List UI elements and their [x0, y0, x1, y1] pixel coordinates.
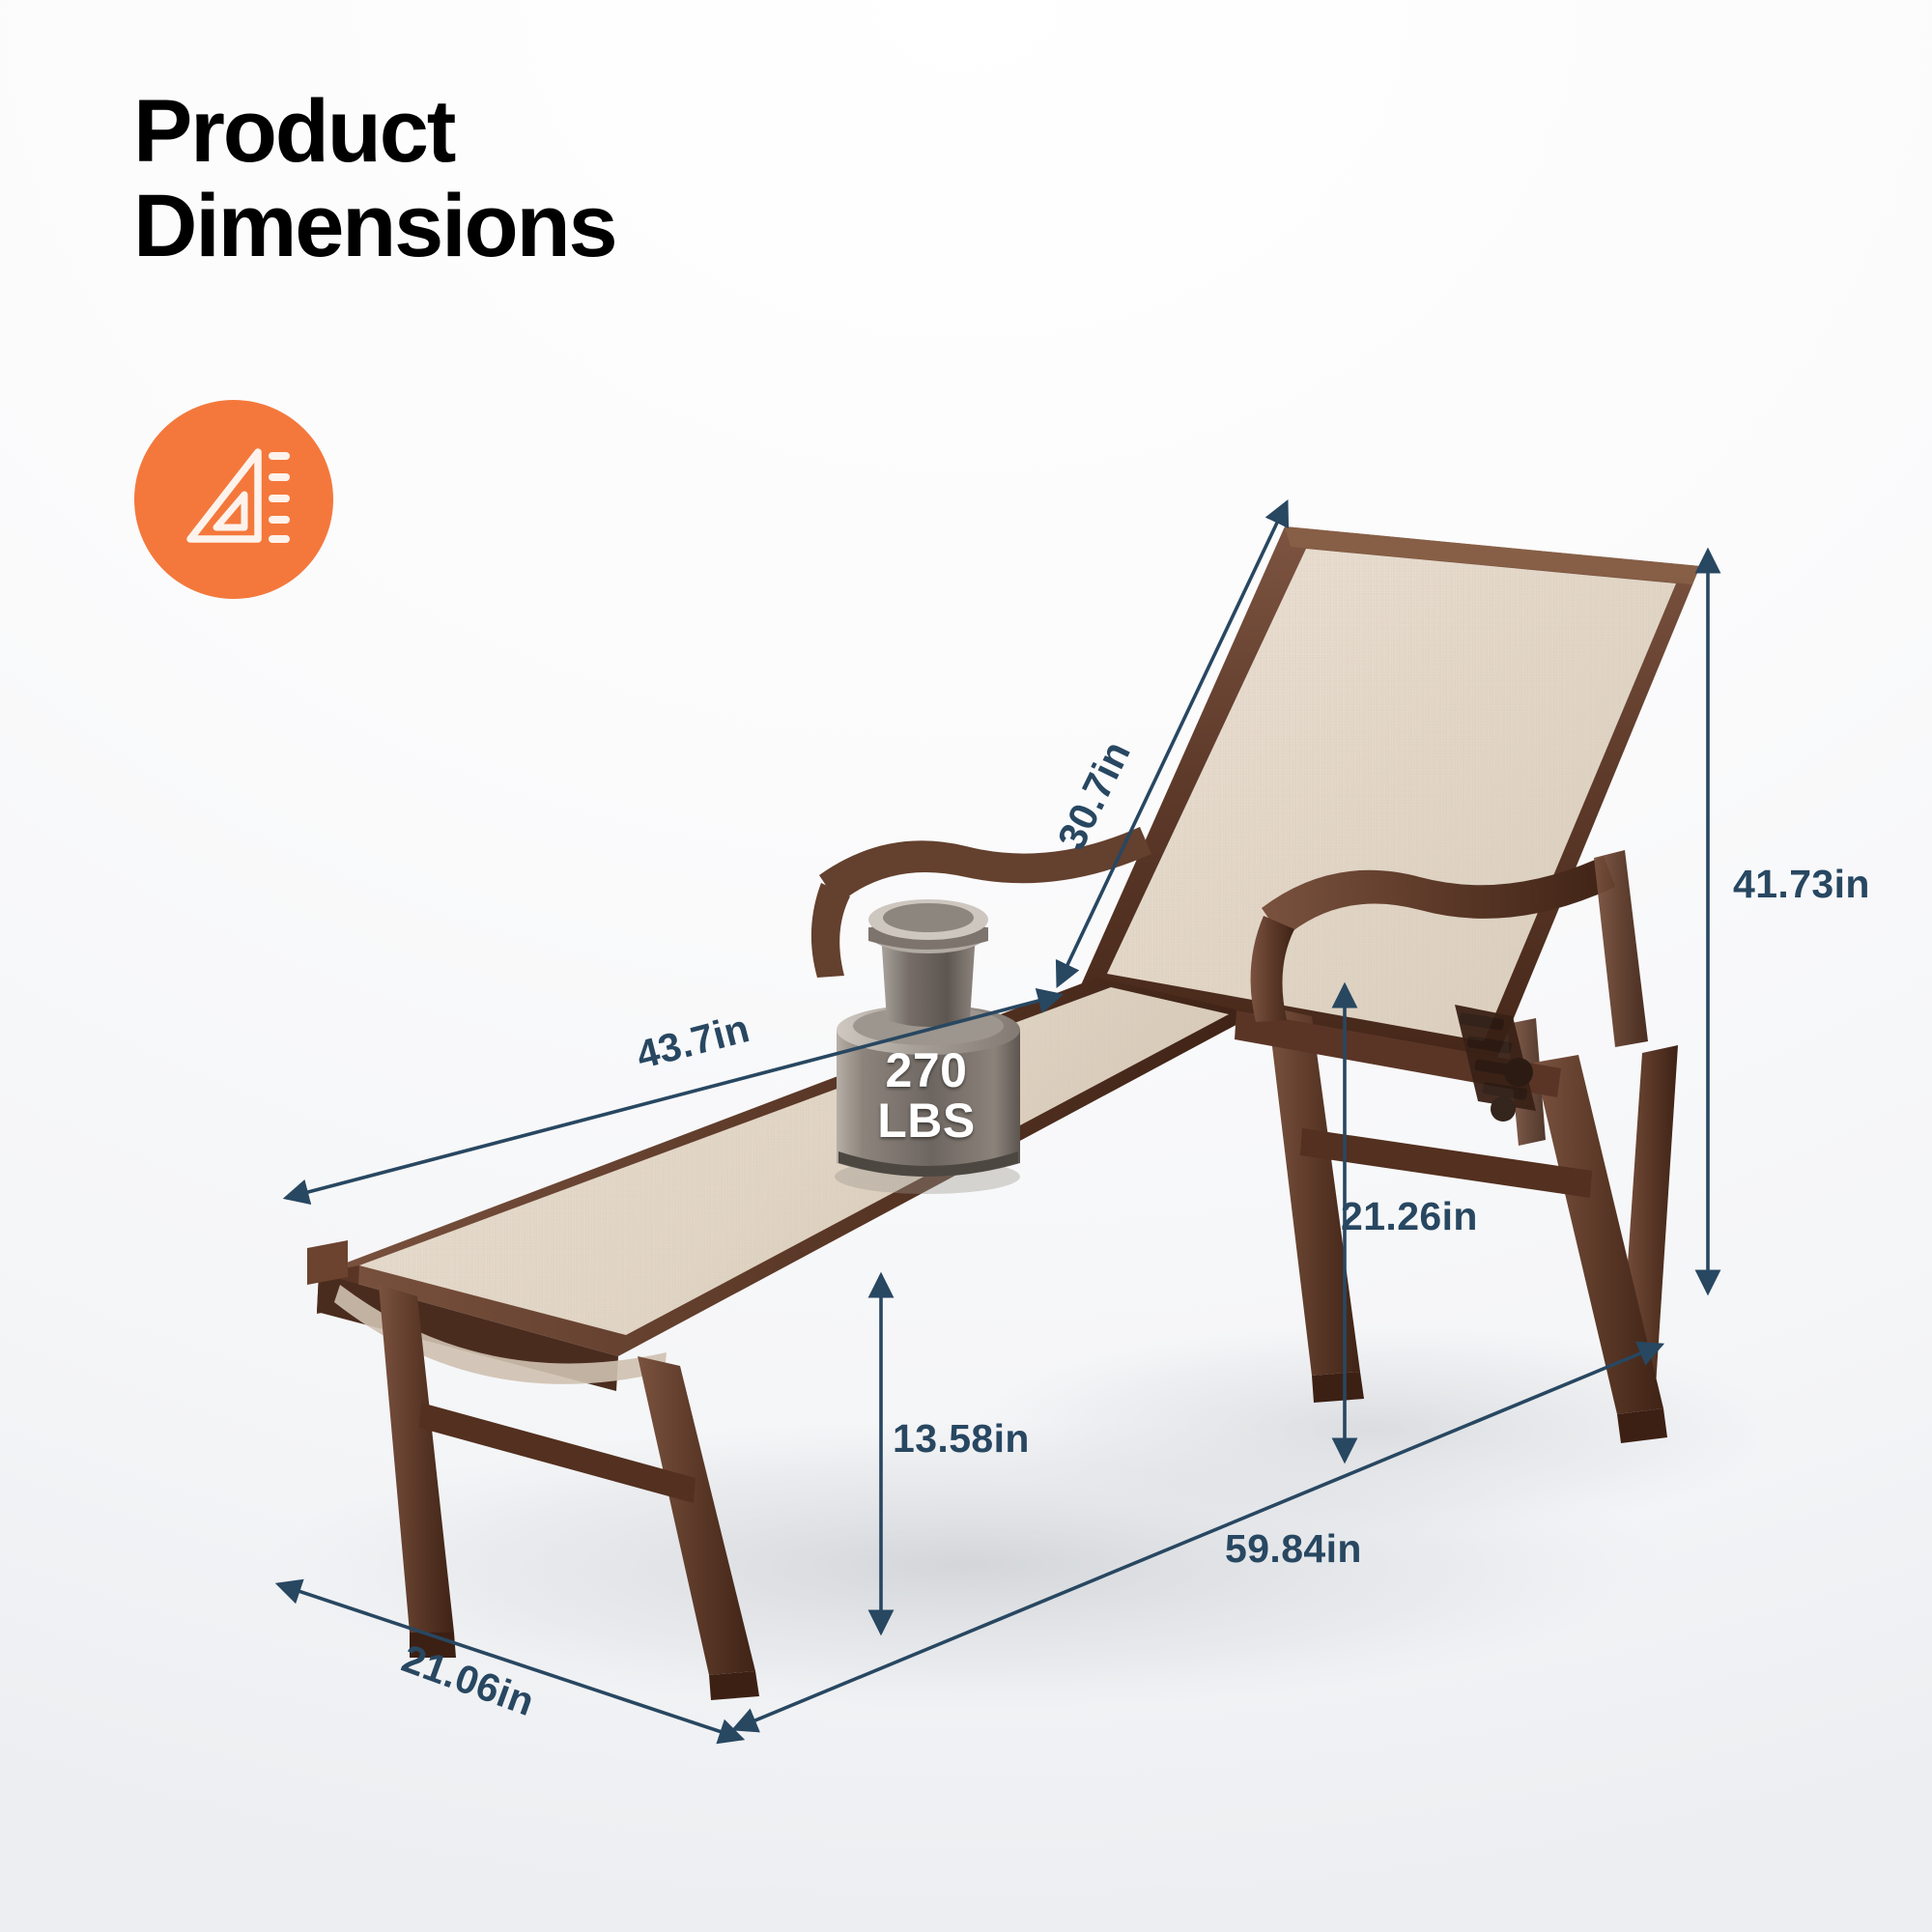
dim-line-backrest-length — [1058, 502, 1287, 985]
dimension-label-seat-height: 13.58in — [893, 1416, 1030, 1462]
dimension-label-back-leg-height: 21.26in — [1341, 1194, 1478, 1239]
dimension-label-overall-height: 41.73in — [1733, 862, 1870, 907]
product-dimensions-infographic: Product Dimensions — [0, 0, 1932, 1932]
dimension-arrows — [0, 0, 1932, 1932]
dimension-label-overall-length: 59.84in — [1225, 1526, 1362, 1572]
dim-line-overall-length — [734, 1345, 1662, 1729]
product-scene: 30.7in 41.73in 43.7in 21.26in 13.58in 59… — [0, 0, 1932, 1932]
